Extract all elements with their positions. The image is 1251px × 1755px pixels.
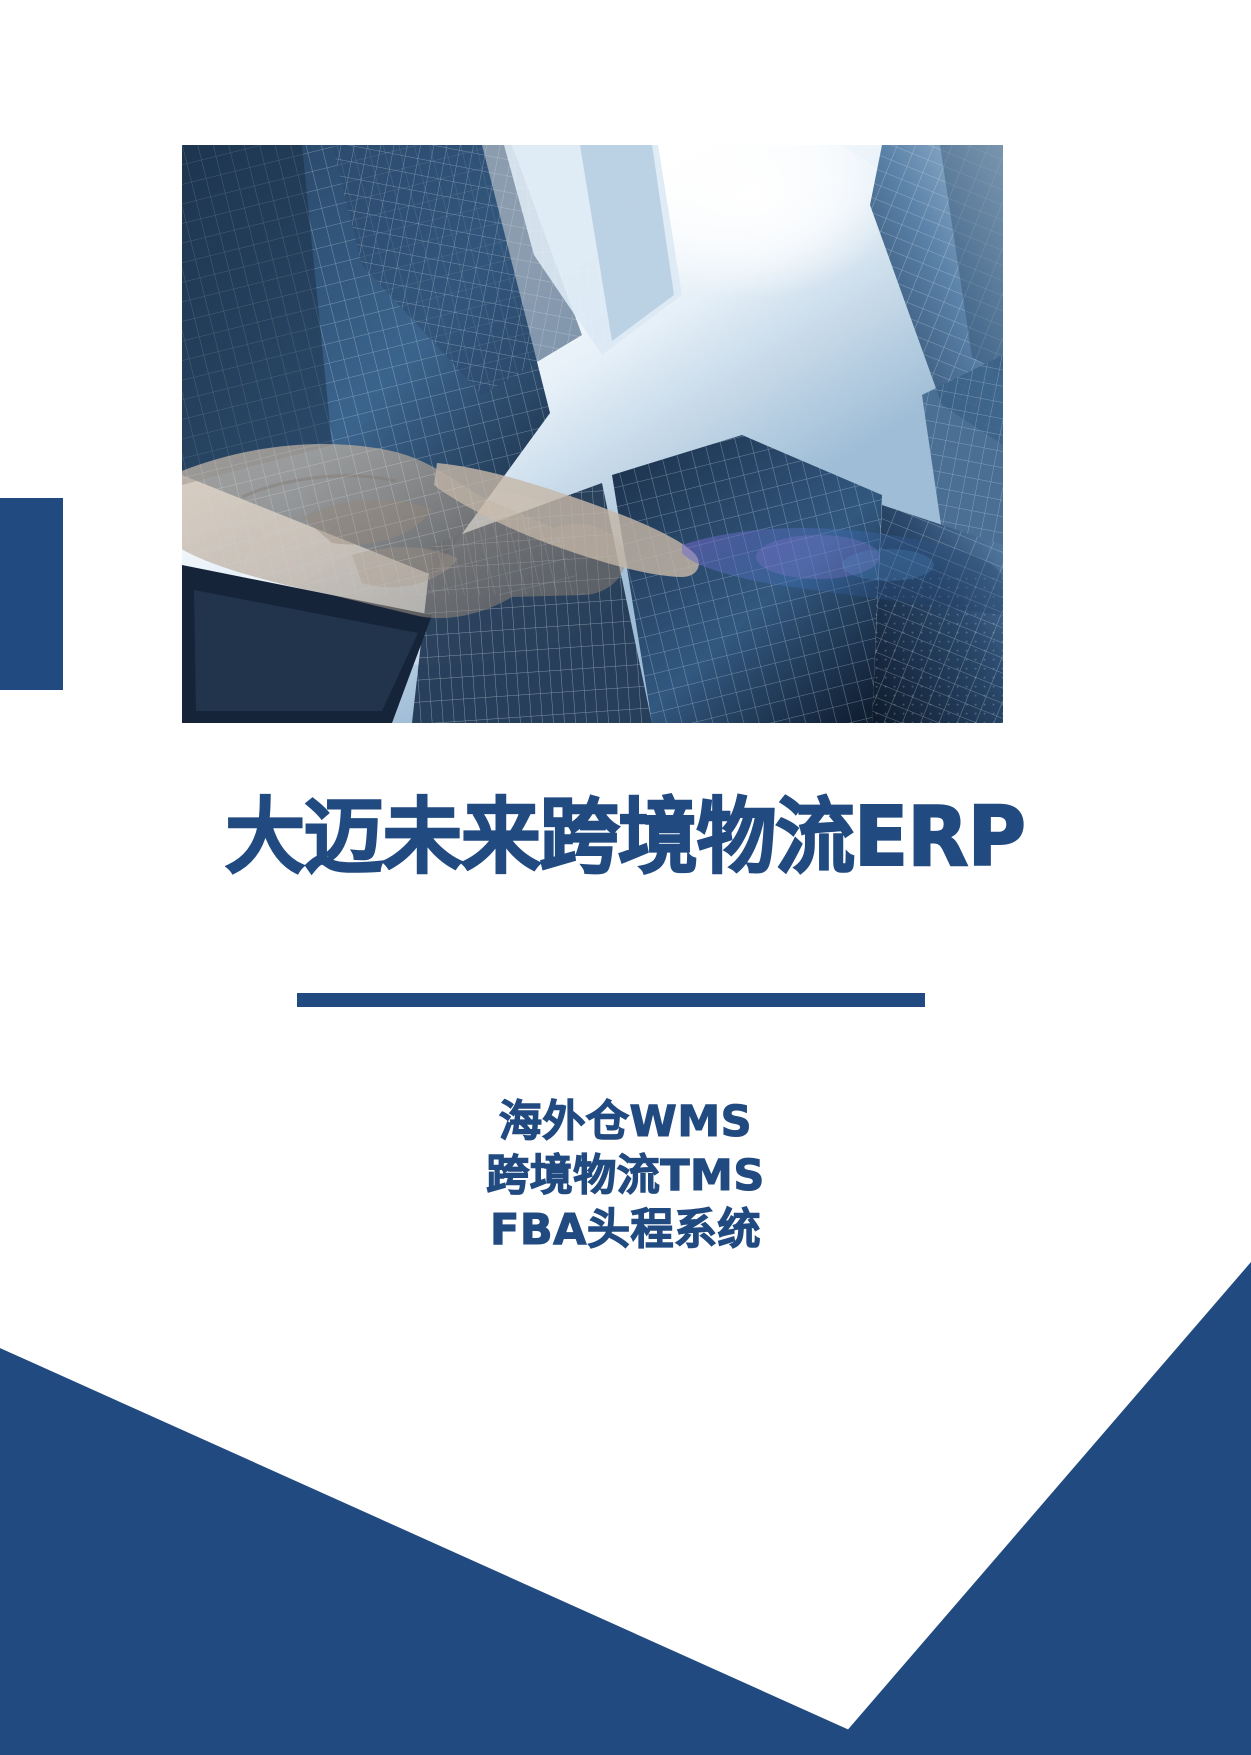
title-underline-rule	[297, 993, 925, 1007]
poster-page: 大迈未来跨境物流ERP 海外仓WMS 跨境物流TMS FBA头程系统 尾程订单系…	[0, 0, 1251, 1755]
page-title-block: 大迈未来跨境物流ERP	[0, 795, 1251, 881]
left-accent-rectangle	[0, 498, 63, 690]
hero-photo	[182, 145, 1003, 723]
page-title: 大迈未来跨境物流ERP	[226, 795, 1026, 881]
bottom-geometric-decoration	[0, 1080, 1251, 1755]
